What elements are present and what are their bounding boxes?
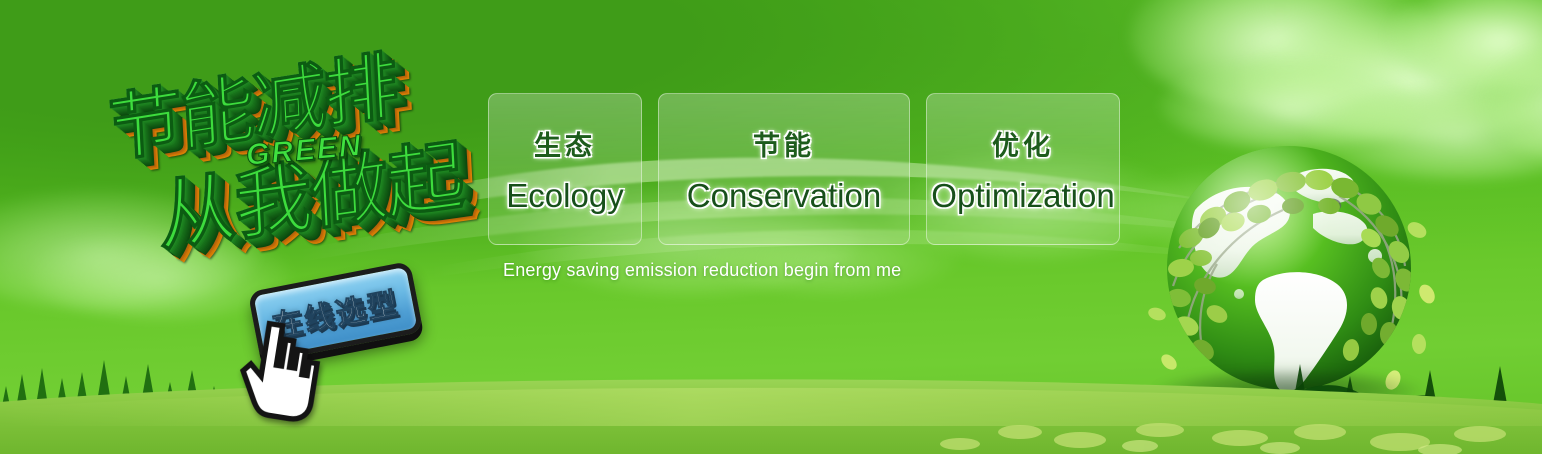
pointing-hand-cursor-icon (230, 312, 331, 428)
feature-card-ecology[interactable]: 生态 Ecology (488, 93, 642, 245)
headline-artwork: 节能减排 GREEN 从我做起 (100, 38, 500, 273)
feature-card-label-en: Conservation (687, 177, 881, 215)
banner-tagline: Energy saving emission reduction begin f… (503, 260, 901, 281)
feature-card-label-cn: 优化 (992, 124, 1054, 163)
feature-card-label-en: Optimization (931, 177, 1114, 215)
feature-card-list: 生态 Ecology 节能 Conservation 优化 Optimizati… (488, 93, 1120, 245)
feature-card-optimization[interactable]: 优化 Optimization (926, 93, 1120, 245)
feature-card-label-cn: 生态 (534, 124, 596, 163)
feature-card-conservation[interactable]: 节能 Conservation (658, 93, 910, 245)
feature-card-label-cn: 节能 (753, 124, 815, 163)
feature-card-label-en: Ecology (506, 177, 623, 215)
eco-promo-banner: 节能减排 GREEN 从我做起 在线选型 生态 Ecology 节能 Conse… (0, 0, 1542, 454)
